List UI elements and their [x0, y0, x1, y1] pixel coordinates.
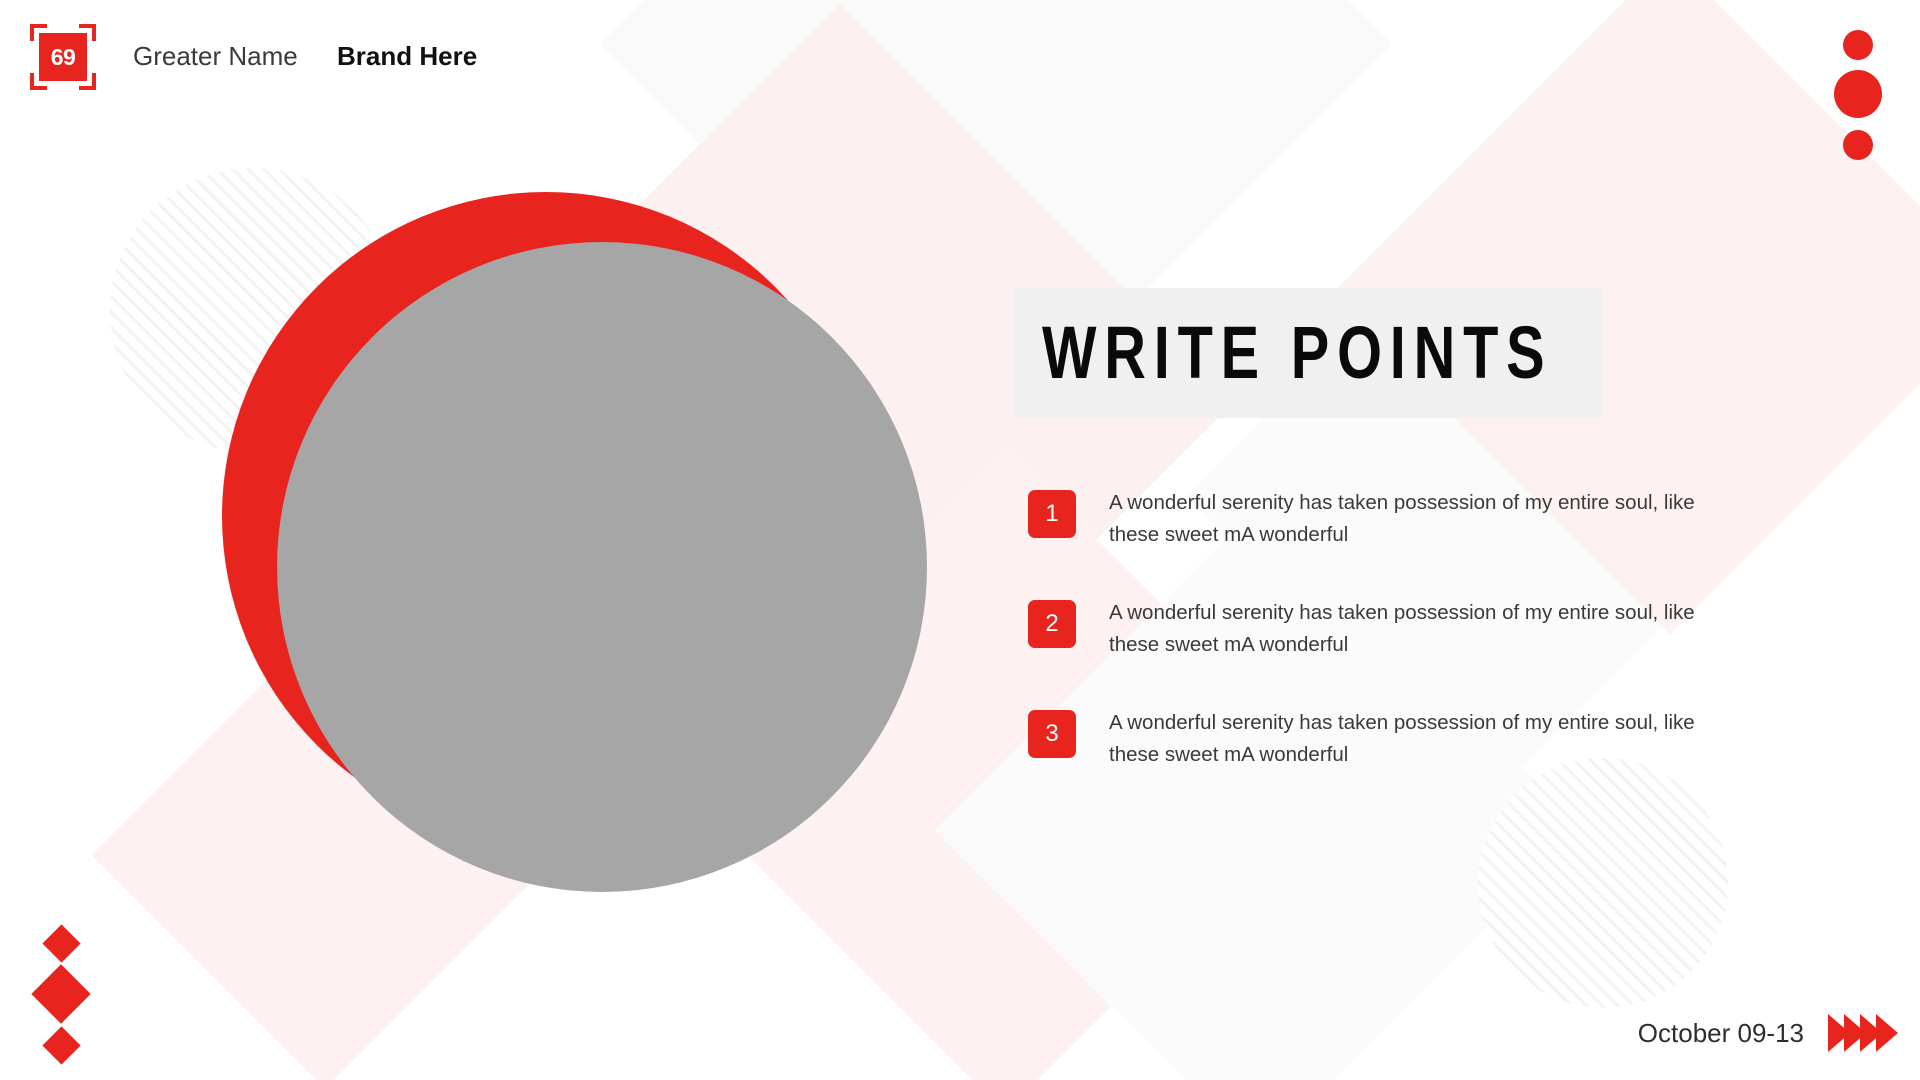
- bracket-frame-icon[interactable]: 69: [30, 24, 96, 90]
- logo-badge: 69: [39, 33, 87, 81]
- list-item[interactable]: 2 A wonderful serenity has taken possess…: [1028, 597, 1748, 662]
- point-text: A wonderful serenity has taken possessio…: [1109, 597, 1729, 662]
- point-number-badge: 3: [1028, 710, 1076, 758]
- logo-number: 69: [51, 46, 76, 69]
- main-content: WRITE POINTS 1 A wonderful serenity has …: [1014, 0, 1920, 1080]
- chevron-right-icon-4: [1876, 1014, 1898, 1052]
- point-text: A wonderful serenity has taken possessio…: [1109, 487, 1729, 552]
- diamond-large-middle: [31, 964, 90, 1023]
- image-placeholder-circle[interactable]: [277, 242, 927, 892]
- point-number-badge: 1: [1028, 490, 1076, 538]
- three-diamonds-icon: [26, 920, 96, 1060]
- footer-date: October 09-13: [1638, 1018, 1804, 1049]
- slide-canvas: 69 Greater Name Brand Here WRITE POINTS …: [0, 0, 1920, 1080]
- page-title-band: WRITE POINTS: [1014, 288, 1602, 418]
- diamond-small-bottom: [42, 1026, 80, 1064]
- list-item[interactable]: 3 A wonderful serenity has taken possess…: [1028, 707, 1748, 772]
- chevrons-right-icon[interactable]: [1828, 1014, 1892, 1052]
- points-list: 1 A wonderful serenity has taken possess…: [1028, 487, 1748, 771]
- page-title: WRITE POINTS: [1042, 316, 1552, 390]
- header-brand: Brand Here: [337, 41, 477, 72]
- list-item[interactable]: 1 A wonderful serenity has taken possess…: [1028, 487, 1748, 552]
- diamond-small-top: [42, 924, 80, 962]
- header-title: Greater Name: [133, 41, 298, 72]
- point-number-badge: 2: [1028, 600, 1076, 648]
- point-text: A wonderful serenity has taken possessio…: [1109, 707, 1729, 772]
- slide-footer: October 09-13: [1638, 1014, 1892, 1052]
